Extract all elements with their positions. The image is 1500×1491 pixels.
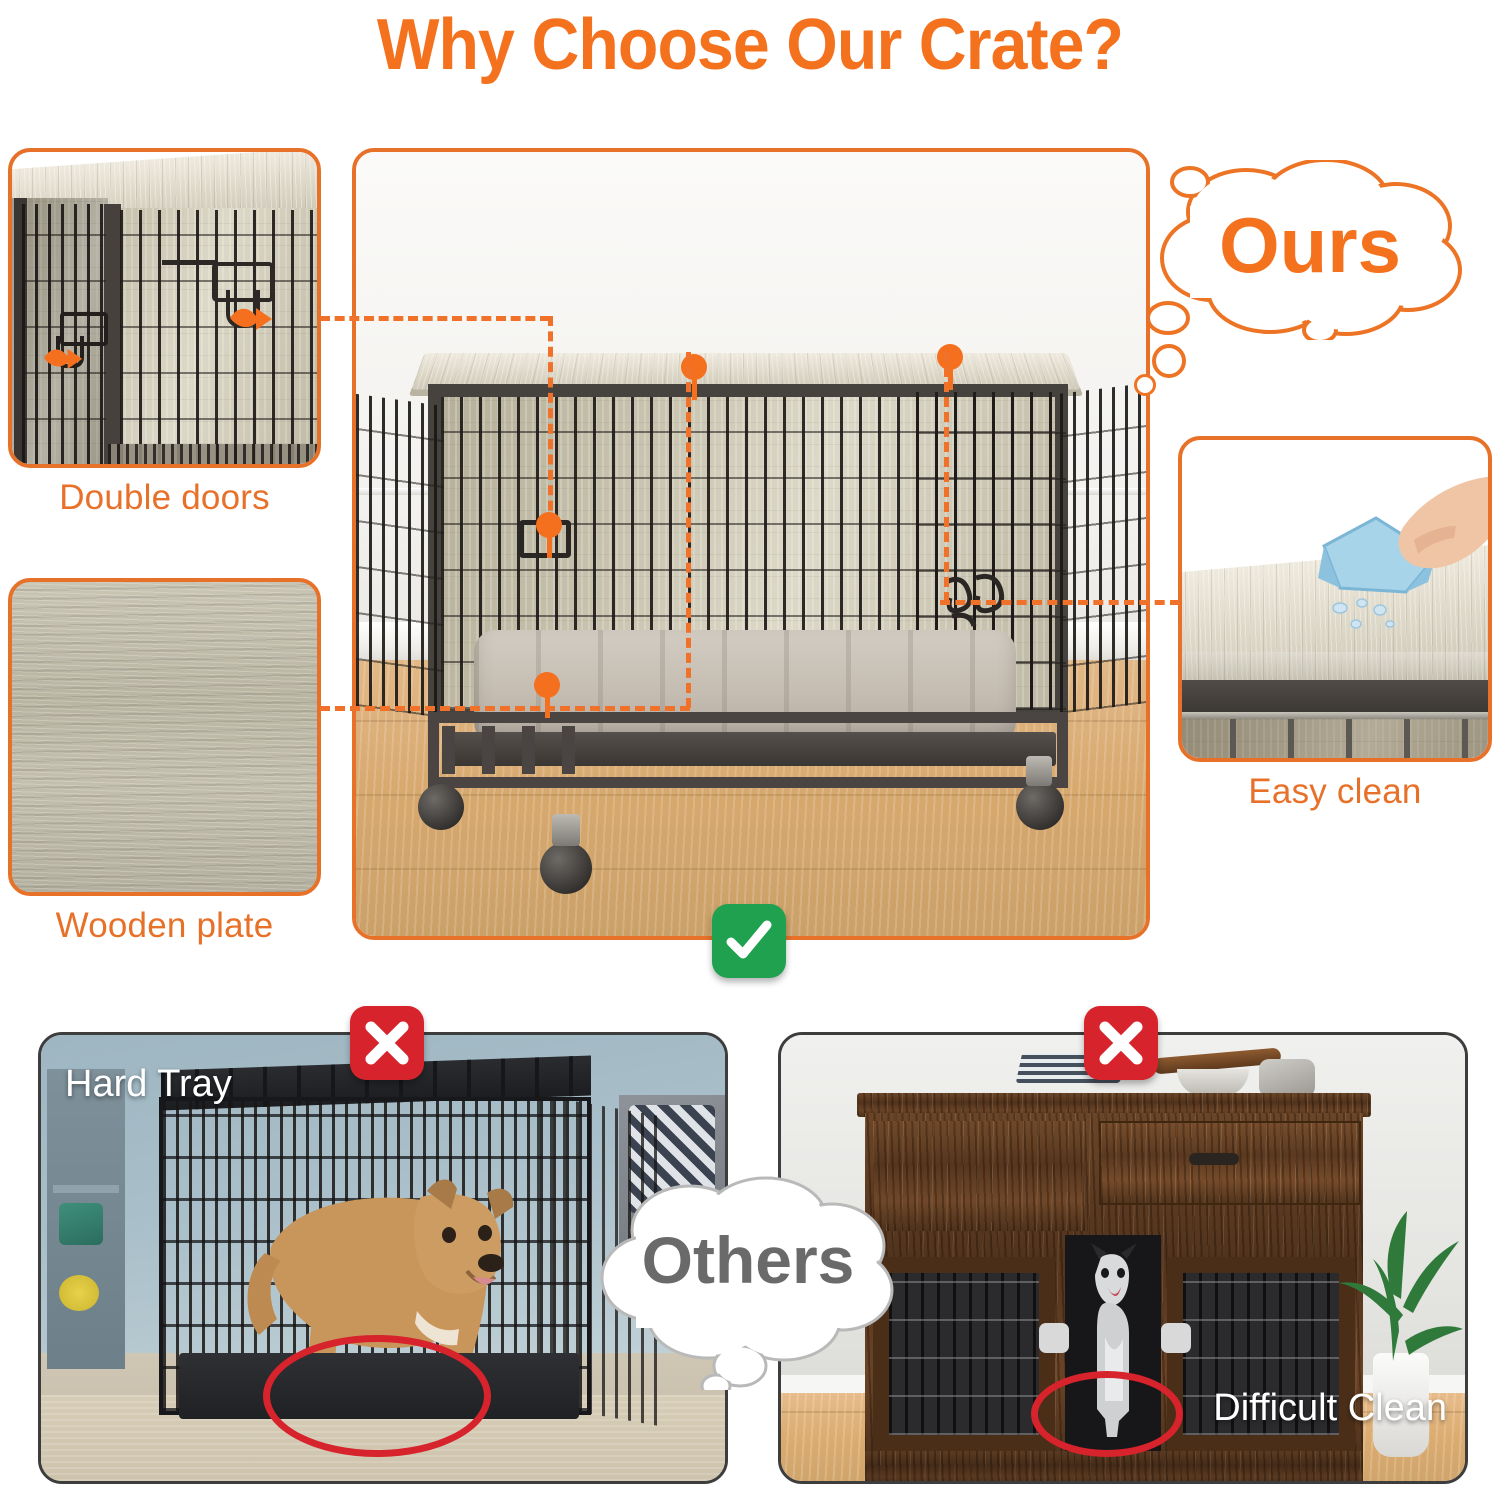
caster-wheel-right (1016, 782, 1064, 830)
connector-double-doors-endpoint (536, 512, 562, 538)
dc-latch-right (1161, 1323, 1191, 1353)
hero-pin-door-latch (534, 672, 560, 698)
feature-panel-double-doors (8, 148, 321, 468)
ours-bubble-label: Ours (1150, 200, 1470, 291)
check-icon (723, 915, 775, 967)
frame-rail (1178, 712, 1492, 719)
connector-double-doors-v (548, 316, 553, 526)
others-bubble: Others (598, 1170, 898, 1390)
wire-door-front (120, 210, 321, 466)
feature-panel-easy-clean (1178, 436, 1492, 762)
dc-drawer-handle (1189, 1153, 1239, 1165)
connector-easy-clean-h (940, 600, 1180, 605)
connector-wooden-plate-v (686, 352, 691, 708)
dc-highlight-ellipse (1031, 1371, 1183, 1457)
hero-panel (352, 148, 1150, 940)
hero-door-right-open (1060, 382, 1150, 713)
dc-plant-leaves-icon (1333, 1203, 1465, 1363)
ht-shelf-item-flowers (59, 1275, 99, 1311)
water-drops-icon (1328, 598, 1408, 636)
cross-icon (363, 1019, 411, 1067)
hand-icon (1368, 474, 1492, 584)
caster-wheel-front-mid (540, 842, 592, 894)
hero-door-left-open (356, 394, 444, 718)
comparison-label-difficult-clean: Difficult Clean (1213, 1387, 1447, 1430)
connector-double-doors-h (320, 316, 550, 321)
connector-wooden-plate-h (320, 706, 690, 711)
page-title: Why Choose Our Crate? (60, 2, 1440, 88)
feature-caption-easy-clean: Easy clean (1178, 772, 1492, 812)
frame-band (1178, 680, 1492, 714)
caster-stem-right (1026, 756, 1052, 786)
ht-shelf-item-green (59, 1203, 103, 1245)
cross-icon (1097, 1019, 1145, 1067)
latch-arrow-left-icon (42, 345, 84, 371)
comparison-badge-cross-right (1084, 1006, 1158, 1080)
dc-door-left (873, 1257, 1055, 1451)
comparison-label-hard-tray: Hard Tray (65, 1063, 232, 1106)
ours-bubble: Ours (1150, 160, 1470, 340)
caster-wheel-front-left (418, 784, 464, 830)
latch-arrow-front-icon (228, 304, 274, 332)
ht-highlight-ellipse (263, 1335, 491, 1457)
crate-floor-grate (108, 444, 321, 466)
comparison-badge-cross-left (350, 1006, 424, 1080)
others-bubble-label: Others (598, 1222, 898, 1298)
feature-panel-wooden-plate (8, 578, 321, 896)
connector-easy-clean-v (944, 352, 949, 602)
feature-caption-double-doors: Double doors (8, 478, 321, 518)
ours-bubble-dot-2 (1134, 374, 1156, 396)
ht-shelf-divider (53, 1185, 119, 1193)
hero-pin-top-panel (681, 354, 707, 380)
dc-kettle (1259, 1059, 1315, 1097)
hero-base-lattice (442, 726, 602, 774)
caster-stem-front-mid (552, 814, 580, 846)
door-latch-front-bar (162, 260, 218, 265)
lower-wire-bars (1178, 719, 1492, 762)
hero-pin-side-panel (937, 344, 963, 370)
dc-left-face (873, 1121, 1085, 1231)
verdict-badge-check (712, 904, 786, 978)
feature-caption-wooden-plate: Wooden plate (8, 906, 321, 946)
ours-bubble-dot-1 (1152, 344, 1186, 378)
dc-latch-left (1039, 1323, 1069, 1353)
